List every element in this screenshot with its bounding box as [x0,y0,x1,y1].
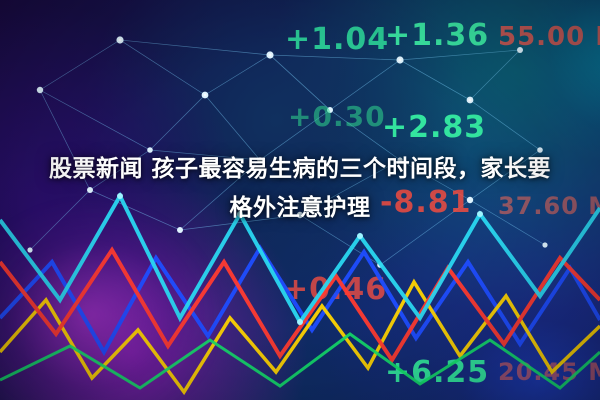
headline-line-1: 股票新闻 孩子最容易生病的三个时间段，家长要 [0,150,600,189]
banner-image: +1.04 +1.36 55.00 M +0.30 +2.83 -8.81 37… [0,0,600,400]
headline: 股票新闻 孩子最容易生病的三个时间段，家长要 格外注意护理 [0,150,600,228]
headline-line-2: 格外注意护理 [0,189,600,228]
trend-line-green [0,334,600,388]
